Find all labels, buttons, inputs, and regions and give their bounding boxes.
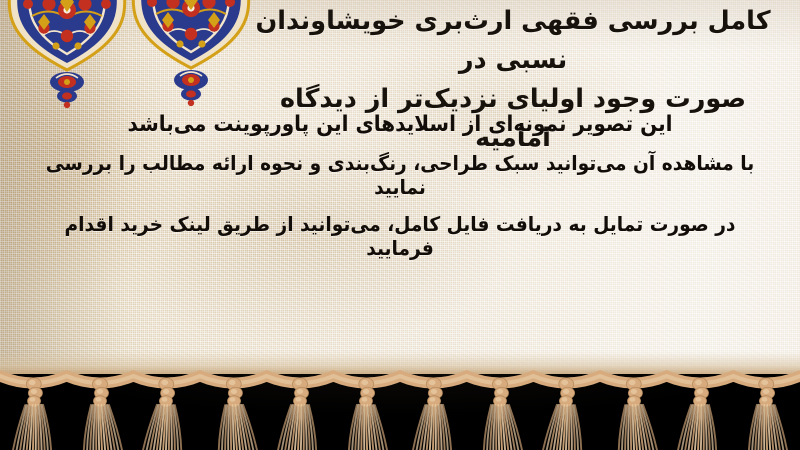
slide-canvas: کامل بررسی فقهی ارث‌بری خویشاوندان نسبی … — [0, 0, 800, 450]
slide-text-layer: کامل بررسی فقهی ارث‌بری خویشاوندان نسبی … — [0, 0, 800, 378]
title-line-1: کامل بررسی فقهی ارث‌بری خویشاوندان نسبی … — [248, 2, 778, 80]
bottom-dark-band — [0, 374, 800, 450]
body-text-block: این تصویر نمونه‌ای از اسلایدهای این پاور… — [0, 112, 800, 260]
body-line-2: با مشاهده آن می‌توانید سبک طراحی، رنگ‌بن… — [28, 151, 772, 199]
body-line-3: در صورت تمایل به دریافت فایل کامل، می‌تو… — [28, 212, 772, 260]
body-line-1: این تصویر نمونه‌ای از اسلایدهای این پاور… — [28, 112, 772, 137]
